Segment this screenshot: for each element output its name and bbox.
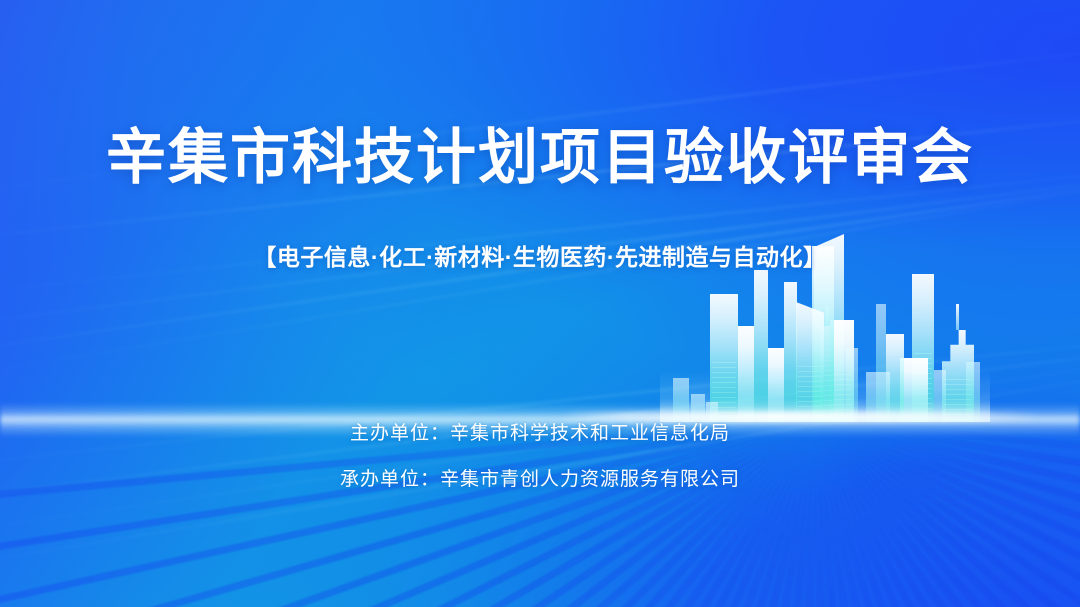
horizon-core-line xyxy=(560,412,1040,421)
event-poster: 辛集市科技计划项目验收评审会 【电子信息·化工·新材料·生物医药·先进制造与自动… xyxy=(0,0,1080,607)
skyline-building xyxy=(784,282,797,422)
building-antenna-icon xyxy=(956,304,959,330)
skyline-building xyxy=(754,270,768,422)
page-subtitle: 【电子信息·化工·新材料·生物医药·先进制造与自动化】 xyxy=(0,238,1080,272)
organizer-host: 主办单位：辛集市科学技术和工业信息化局 xyxy=(0,424,1080,443)
page-title: 辛集市科技计划项目验收评审会 xyxy=(0,124,1080,191)
organizer-block: 主办单位：辛集市科学技术和工业信息化局 承办单位：辛集市青创人力资源服务有限公司 xyxy=(0,424,1080,489)
organizer-coordinator: 承办单位：辛集市青创人力资源服务有限公司 xyxy=(0,470,1080,489)
